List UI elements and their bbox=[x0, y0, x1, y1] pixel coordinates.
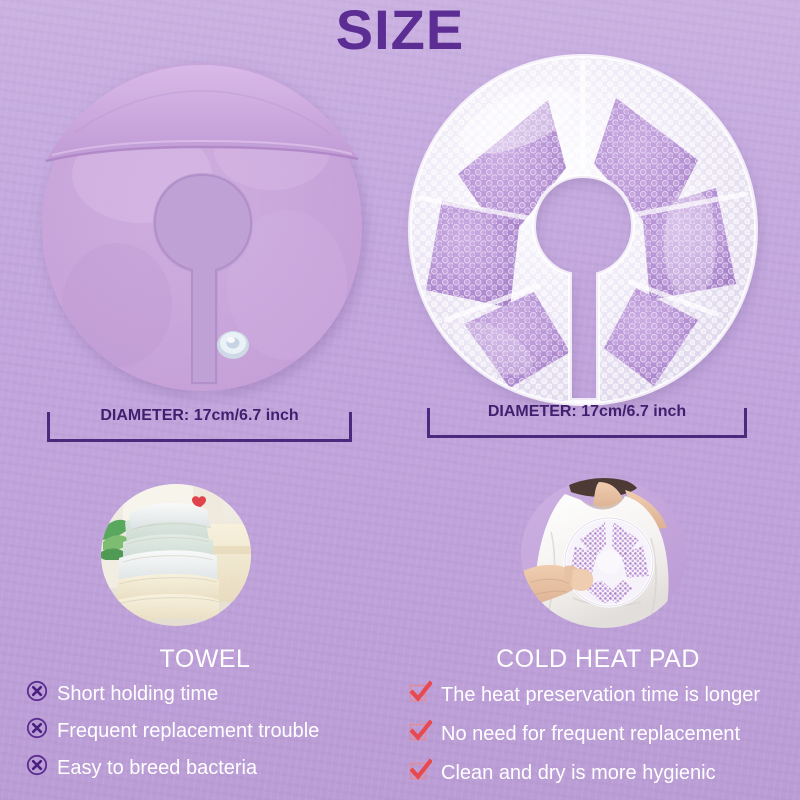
towel-point-text: Frequent replacement trouble bbox=[57, 720, 319, 742]
towel-photo bbox=[101, 484, 251, 626]
pad-point-text: Clean and dry is more hygienic bbox=[441, 762, 716, 784]
gel-pad-product-image bbox=[398, 48, 768, 413]
checkbox-check-icon bbox=[408, 758, 432, 788]
list-item: Short holding time bbox=[10, 680, 400, 708]
pad-point-text: No need for frequent replacement bbox=[441, 723, 740, 745]
pad-bullet-list: The heat preservation time is longer No … bbox=[400, 680, 796, 788]
list-item: The heat preservation time is longer bbox=[400, 680, 796, 710]
towel-point-text: Easy to breed bacteria bbox=[57, 757, 257, 779]
dimension-text-towel: DIAMETER: 17cm/6.7 inch bbox=[50, 407, 349, 425]
dimension-label-gel: DIAMETER: 17cm/6.7 inch bbox=[427, 408, 747, 438]
cross-circle-icon bbox=[26, 680, 48, 708]
comparison-column-pad: COLD HEAT PAD The heat preservation time… bbox=[400, 645, 796, 797]
towel-bullet-list: Short holding time Frequent replacement … bbox=[10, 680, 400, 782]
comparison-column-towel: TOWEL Short holding time F bbox=[10, 645, 400, 791]
cross-circle-icon bbox=[26, 717, 48, 745]
towel-heading: TOWEL bbox=[10, 645, 400, 674]
towel-cover-product-image bbox=[22, 55, 382, 405]
pad-point-text: The heat preservation time is longer bbox=[441, 684, 760, 706]
towel-point-text: Short holding time bbox=[57, 683, 218, 705]
list-item: Easy to breed bacteria bbox=[10, 754, 400, 782]
dimension-text-gel: DIAMETER: 17cm/6.7 inch bbox=[430, 403, 744, 421]
dimension-label-towel: DIAMETER: 17cm/6.7 inch bbox=[47, 412, 352, 442]
cold-heat-pad-photo bbox=[521, 478, 687, 628]
checkbox-check-icon bbox=[408, 680, 432, 710]
list-item: Clean and dry is more hygienic bbox=[400, 758, 796, 788]
snap-button bbox=[217, 331, 249, 359]
checkbox-check-icon bbox=[408, 719, 432, 749]
cross-circle-icon bbox=[26, 754, 48, 782]
pad-heading: COLD HEAT PAD bbox=[400, 645, 796, 674]
list-item: No need for frequent replacement bbox=[400, 719, 796, 749]
infographic-page: SIZE bbox=[0, 0, 800, 800]
list-item: Frequent replacement trouble bbox=[10, 717, 400, 745]
